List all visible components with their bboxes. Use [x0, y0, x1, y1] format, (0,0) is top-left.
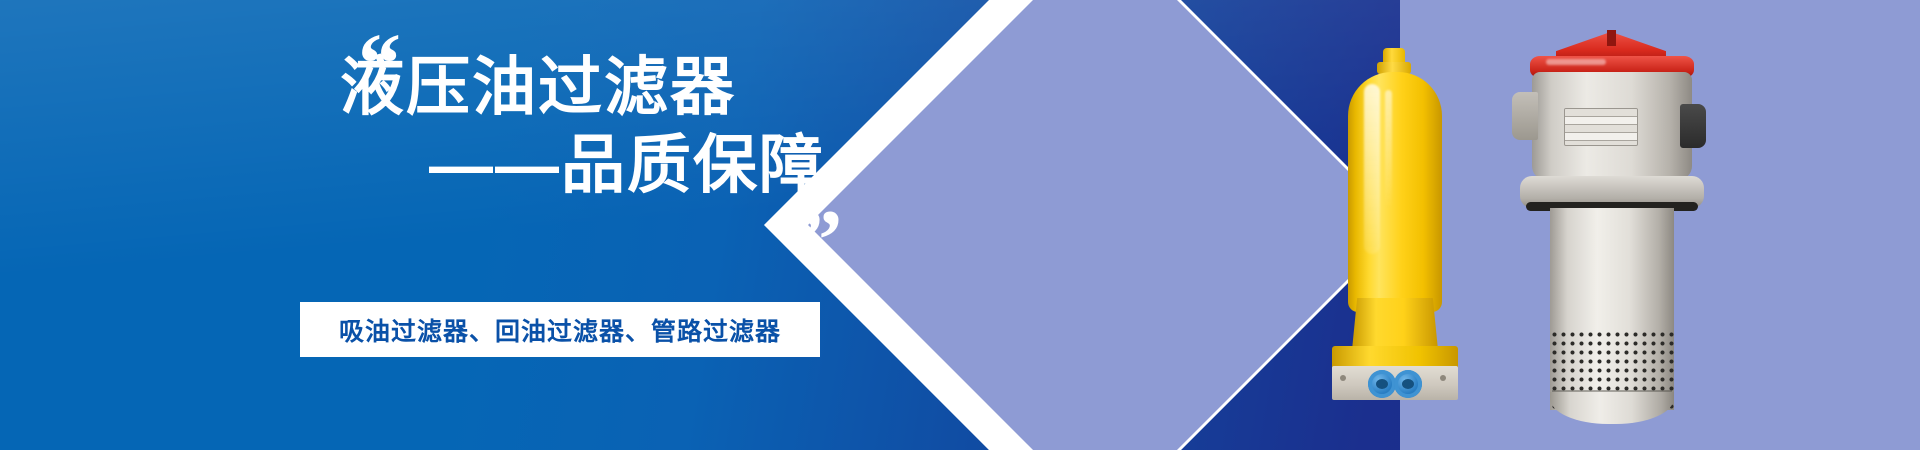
- filter-port-b-bore: [1402, 379, 1414, 389]
- mount-bolt-left: [1340, 375, 1346, 381]
- filter-port-a-bore: [1376, 379, 1388, 389]
- headline-line-2: ——品质保障: [335, 126, 865, 204]
- promo-banner: “ 液压油过滤器 ——品质保障 „ 吸油过滤器、回油过滤器、管路过滤器: [0, 0, 1920, 450]
- red-cap-notch: [1607, 30, 1616, 46]
- filter-taper: [1352, 298, 1438, 350]
- subtitle-box: 吸油过滤器、回油过滤器、管路过滤器: [300, 302, 820, 357]
- housing-side-port-left: [1512, 92, 1538, 140]
- subtitle-text: 吸油过滤器、回油过滤器、管路过滤器: [339, 312, 781, 348]
- red-cap-highlight: [1546, 59, 1606, 65]
- copy-block: “ 液压油过滤器 ——品质保障 „ 吸油过滤器、回油过滤器、管路过滤器: [0, 0, 900, 450]
- filter-body: [1348, 72, 1442, 312]
- nameplate-label: [1564, 108, 1638, 146]
- yellow-hydraulic-oil-filter: [1330, 48, 1460, 400]
- headline-line-1: 液压油过滤器: [335, 48, 865, 126]
- filter-highlight-secondary: [1385, 90, 1392, 210]
- housing-side-port-right: [1680, 104, 1706, 148]
- canister-bottom-cap: [1550, 392, 1674, 424]
- close-quote-icon: „: [800, 152, 843, 238]
- mount-bolt-right: [1440, 375, 1446, 381]
- filter-highlight: [1364, 84, 1380, 254]
- white-red-tank-return-filter: [1512, 30, 1712, 430]
- headline: 液压油过滤器 ——品质保障: [335, 48, 865, 204]
